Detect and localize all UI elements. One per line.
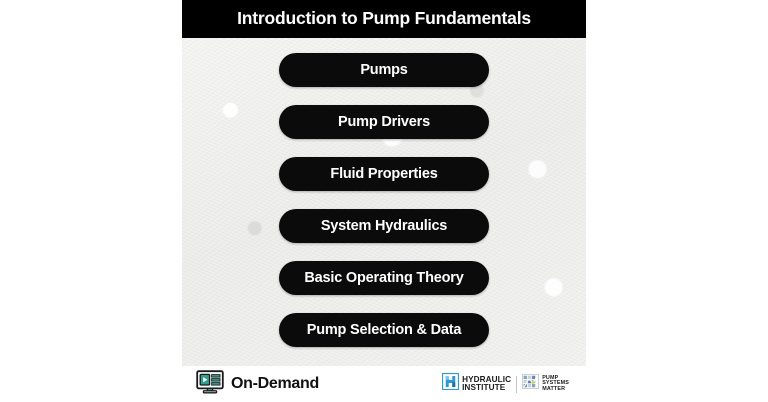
topic-pill-pumps[interactable]: Pumps xyxy=(279,53,489,87)
topic-pill-basic-operating-theory[interactable]: Basic Operating Theory xyxy=(279,261,489,295)
pump-systems-matter-logo: PUMP SYSTEMS MATTER xyxy=(517,374,574,394)
topic-pill-label: Pump Selection & Data xyxy=(307,322,462,338)
brand-logos: HYDRAULIC INSTITUTE xyxy=(437,373,574,395)
topic-list: Pumps Pump Drivers Fluid Properties Syst… xyxy=(182,53,586,347)
on-demand-label: On-Demand xyxy=(231,375,319,393)
hydraulic-institute-logo: HYDRAULIC INSTITUTE xyxy=(437,373,516,395)
topic-pill-label: System Hydraulics xyxy=(321,218,447,234)
topic-pill-system-hydraulics[interactable]: System Hydraulics xyxy=(279,209,489,243)
pump-systems-matter-line3: MATTER xyxy=(542,387,569,393)
slide-footer: On-Demand HYDRAULIC INSTITUTE xyxy=(182,366,586,402)
hydraulic-institute-h-mark xyxy=(442,373,459,395)
pump-systems-matter-wordmark: PUMP SYSTEMS MATTER xyxy=(542,376,569,393)
on-demand-badge: On-Demand xyxy=(196,370,319,399)
slide-stage: Introduction to Pump Fundamentals Pumps … xyxy=(0,0,768,402)
monitor-play-icon xyxy=(196,370,224,399)
hydraulic-institute-wordmark: HYDRAULIC INSTITUTE xyxy=(462,376,511,393)
topic-pill-pump-selection-and-data[interactable]: Pump Selection & Data xyxy=(279,313,489,347)
slide-header: Introduction to Pump Fundamentals xyxy=(182,0,586,38)
slide-card: Introduction to Pump Fundamentals Pumps … xyxy=(182,0,586,402)
topic-pill-label: Fluid Properties xyxy=(330,166,437,182)
topic-pill-label: Basic Operating Theory xyxy=(304,270,463,286)
topic-pill-label: Pumps xyxy=(360,62,407,78)
topic-pill-label: Pump Drivers xyxy=(338,114,430,130)
topic-pill-fluid-properties[interactable]: Fluid Properties xyxy=(279,157,489,191)
slide-body: Pumps Pump Drivers Fluid Properties Syst… xyxy=(182,38,586,366)
pump-systems-matter-grid-mark xyxy=(522,374,539,394)
topic-pill-pump-drivers[interactable]: Pump Drivers xyxy=(279,105,489,139)
page-title: Introduction to Pump Fundamentals xyxy=(237,10,531,28)
hydraulic-institute-line2: INSTITUTE xyxy=(462,384,511,392)
